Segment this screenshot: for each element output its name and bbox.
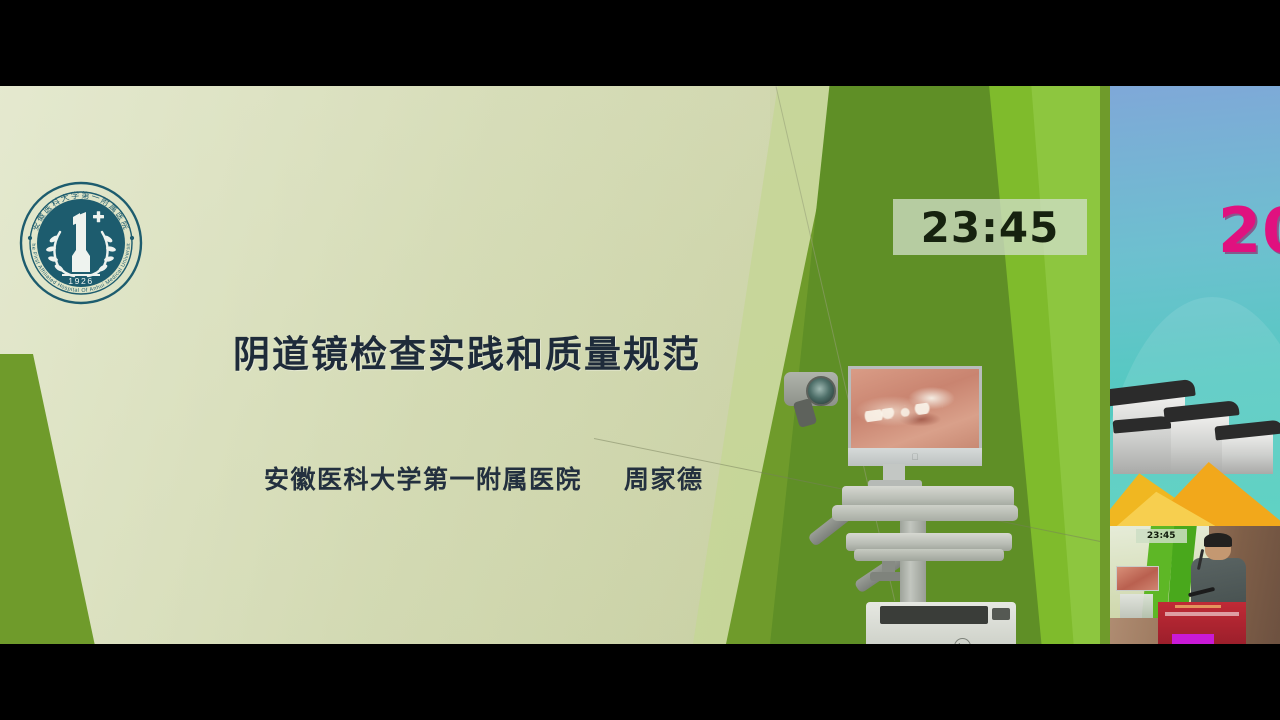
podium-lower-screen [1172, 634, 1214, 644]
projected-cart [1120, 594, 1154, 618]
printer-output-tray [880, 606, 988, 624]
imac-monitor:  [848, 366, 982, 450]
slide-subtitle: 安徽医科大学第一附属医院周家德 [264, 460, 704, 496]
hospital-logo-icon: 安徽医科大学第一附属医院 The First Affiliated Hospit… [18, 180, 144, 306]
speaker-video-feed[interactable]: 23:45 [1110, 526, 1280, 644]
video-player-stage: 安徽医科大学第一附属医院 The First Affiliated Hospit… [0, 0, 1280, 720]
printer-control-panel [992, 608, 1010, 620]
video-podium [1158, 602, 1246, 644]
preview-architecture-illustration [1110, 346, 1280, 474]
countdown-timer-badge: 23:45 [893, 199, 1087, 255]
rail-green-strip [1100, 86, 1110, 644]
monitor-chin:  [848, 448, 982, 466]
apple-logo-icon:  [912, 453, 919, 462]
right-rail: 20 23:45 [1100, 86, 1280, 644]
projected-countdown-timer: 23:45 [1136, 529, 1187, 543]
podium-banner-line-2 [1165, 612, 1239, 616]
slide-institution: 安徽医科大学第一附属医院 [264, 465, 582, 494]
next-slide-preview[interactable]: 20 [1110, 86, 1280, 526]
hp-logo-icon: hp [954, 638, 971, 644]
hp-printer: hp [866, 602, 1016, 644]
main-slide-panel: 安徽医科大学第一附属医院 The First Affiliated Hospit… [0, 86, 1100, 644]
podium-banner-line-1 [1175, 605, 1221, 608]
slide-title: 阴道镜检查实践和质量规范 [233, 324, 701, 378]
speaker-hair [1204, 533, 1232, 547]
preview-slide-number: 20 [1218, 194, 1280, 267]
cart-top-tray [832, 505, 1018, 521]
projected-monitor [1116, 566, 1159, 590]
colposcope-cart-illustration:  hp [770, 276, 1030, 644]
logo-year: 1926 [68, 276, 94, 286]
slide-presenter: 周家德 [624, 465, 704, 494]
monitor-screen-colposcopy-image [848, 366, 982, 450]
cart-keyboard-tray [854, 549, 1004, 561]
countdown-timer-value: 23:45 [921, 203, 1060, 252]
preview-mountains-illustration [1110, 458, 1280, 526]
